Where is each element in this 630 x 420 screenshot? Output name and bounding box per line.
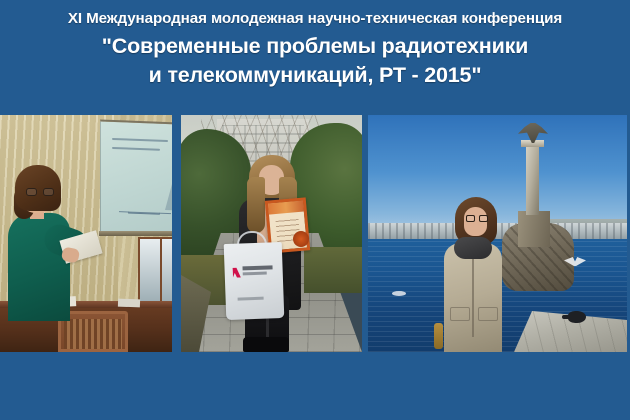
room-window [138,237,172,303]
photo-diploma-scene [181,115,362,352]
bird-on-quay-icon [568,311,586,323]
bag-sponsor-logo [232,264,274,279]
girl-hair-strand-left [247,177,265,233]
sponsor-logo-subtext [243,272,267,276]
jacket-pocket-right [478,307,498,321]
diploma-seal [293,231,309,247]
photo-presentation-scene [0,115,172,352]
photo-sevastopol-scene [368,115,627,352]
bag-bottom-text [238,297,264,301]
projector-screen [100,119,172,234]
held-bottle [434,323,443,349]
woman-glasses-icon [466,215,488,222]
photo-presentation [0,115,172,352]
conference-title-line-1: "Современные проблемы радиотехники [102,32,528,61]
photo-sevastopol [368,115,627,352]
woman-jacket [444,243,502,352]
woman-scarf [454,237,492,259]
projector-screen-bar [99,231,172,236]
slide-triangle-diagram [128,175,158,214]
slide-triangle-secondary [165,180,172,211]
gift-bag [224,242,285,320]
speaker-glasses-icon [26,188,54,196]
sponsor-logo-mark-icon [233,267,241,277]
sponsor-logo-text [242,265,272,270]
girl-boots [243,337,289,352]
conference-subtitle: XI Международная молодежная научно-техни… [68,9,562,28]
conference-title-line-2: и телекоммуникаций, РТ - 2015" [149,61,482,90]
monument-column [526,145,539,215]
slide-text-line [112,138,168,142]
photo-diploma [181,115,362,352]
table-papers [118,299,140,308]
monument-pedestal [518,211,550,247]
jacket-pocket-left [450,307,470,321]
photo-strip [0,115,630,352]
grass-right [304,247,362,293]
poster-header: XI Международная молодежная научно-техни… [0,0,630,112]
conference-poster: XI Международная молодежная научно-техни… [0,0,630,420]
slide-text-line [112,147,160,150]
seagull-on-water-icon [392,291,406,296]
